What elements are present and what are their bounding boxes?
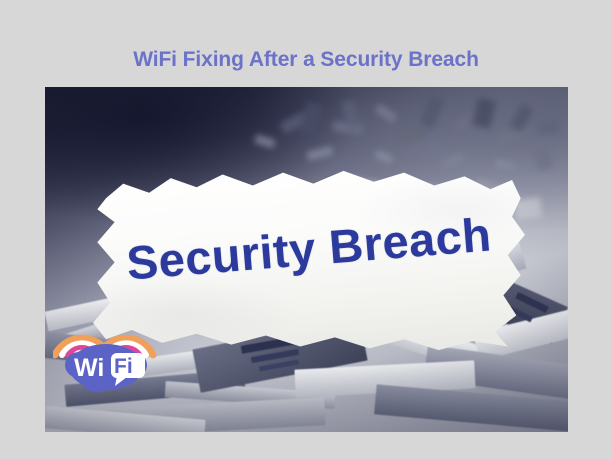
wifi-logo-svg: Wi Fi bbox=[53, 321, 159, 393]
wifi-wordmark-wi: Wi bbox=[74, 354, 104, 382]
wifi-logo: Wi Fi bbox=[53, 321, 159, 393]
security-breach-headline: Security Breach bbox=[91, 204, 526, 294]
page-title: WiFi Fixing After a Security Breach bbox=[0, 46, 612, 74]
featured-image: Security Breach bbox=[45, 87, 568, 432]
wifi-wordmark-fi: Fi bbox=[114, 355, 133, 378]
